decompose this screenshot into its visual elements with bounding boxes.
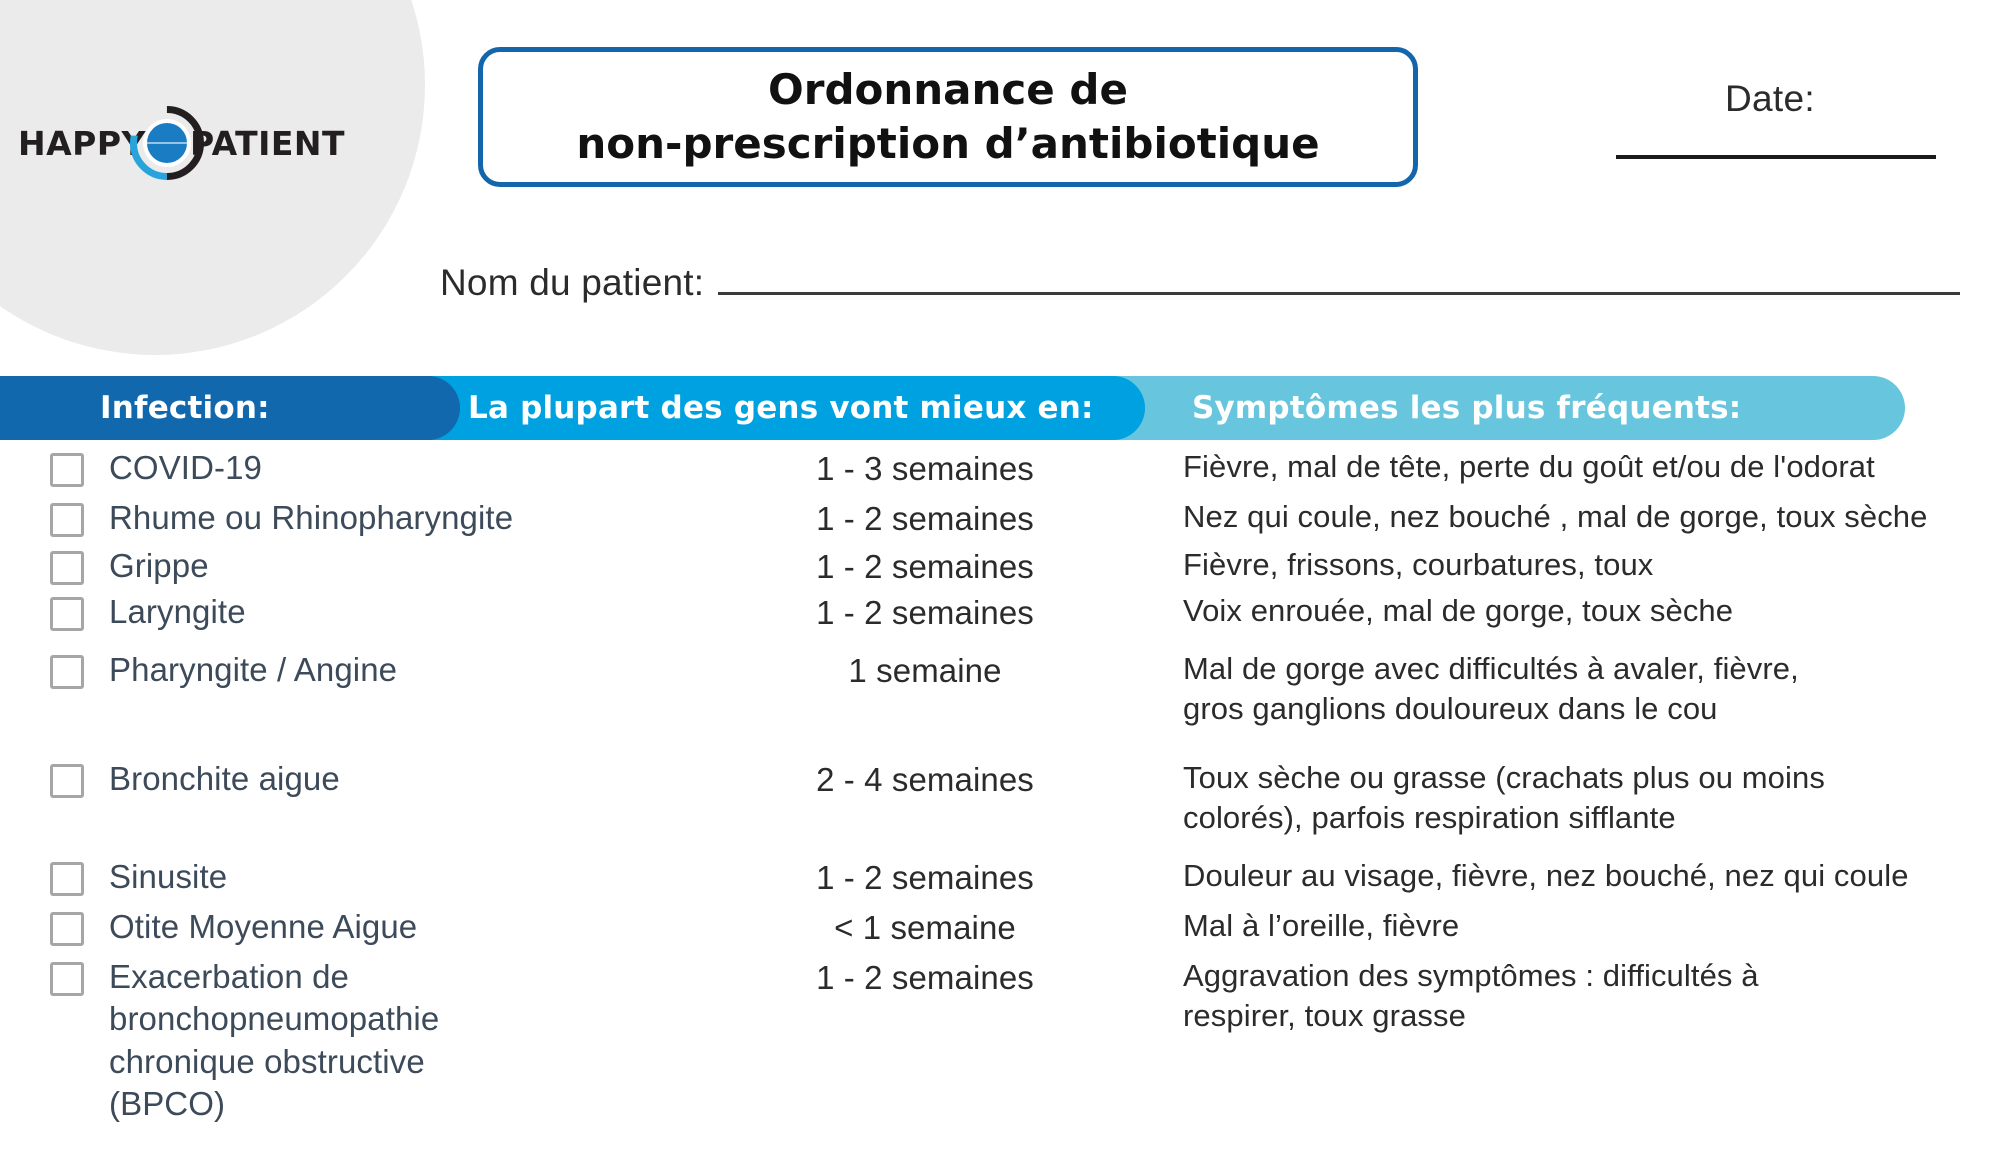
symptoms-cell: Voix enrouée, mal de gorge, toux sèche: [1150, 591, 2000, 631]
prescription-form-page: HAPPY PATIENT Ordonnance de non-prescrip…: [0, 0, 2000, 1166]
symptoms-cell: Mal à l’oreille, fièvre: [1150, 906, 2000, 946]
infection-label: Grippe: [109, 545, 209, 587]
symptoms-line: Fièvre, mal de tête, perte du goût et/ou…: [1183, 447, 1970, 487]
infection-cell: Sinusite: [0, 856, 700, 898]
infection-checkbox[interactable]: [50, 764, 84, 798]
infection-label: Exacerbation de bronchopneumopathie chro…: [109, 956, 509, 1125]
duration-cell: 1 - 2 semaines: [700, 856, 1150, 899]
patient-name-input-line[interactable]: [718, 292, 1960, 295]
symptoms-cell: Aggravation des symptômes : difficultés …: [1150, 956, 2000, 1037]
form-title-box: Ordonnance de non-prescription d’antibio…: [478, 47, 1418, 187]
infection-checkbox[interactable]: [50, 551, 84, 585]
symptoms-line: Mal à l’oreille, fièvre: [1183, 906, 1970, 946]
infection-checkbox[interactable]: [50, 862, 84, 896]
symptoms-line: gros ganglions douloureux dans le cou: [1183, 689, 1970, 729]
infection-label: Pharyngite / Angine: [109, 649, 397, 691]
symptoms-cell: Fièvre, mal de tête, perte du goût et/ou…: [1150, 447, 2000, 487]
table-header-symptoms-label: Symptômes les plus fréquents:: [1192, 390, 1741, 426]
date-input-line[interactable]: [1616, 155, 1936, 159]
table-header-bar: Symptômes les plus fréquents: La plupart…: [0, 376, 1905, 440]
infection-table: COVID-191 - 3 semainesFièvre, mal de têt…: [0, 447, 2000, 1125]
symptoms-line: Toux sèche ou grasse (crachats plus ou m…: [1183, 758, 1970, 798]
infection-cell: Pharyngite / Angine: [0, 649, 700, 691]
symptoms-line: Fièvre, frissons, courbatures, toux: [1183, 545, 1970, 585]
symptoms-line: respirer, toux grasse: [1183, 996, 1970, 1036]
symptoms-cell: Douleur au visage, fièvre, nez bouché, n…: [1150, 856, 2000, 896]
table-row[interactable]: Exacerbation de bronchopneumopathie chro…: [0, 956, 2000, 1125]
symptoms-cell: Nez qui coule, nez bouché , mal de gorge…: [1150, 497, 2000, 537]
infection-checkbox[interactable]: [50, 597, 84, 631]
infection-cell: Exacerbation de bronchopneumopathie chro…: [0, 956, 700, 1125]
symptoms-cell: Mal de gorge avec difficultés à avaler, …: [1150, 649, 2000, 730]
infection-label: Rhume ou Rhinopharyngite: [109, 497, 513, 539]
table-row[interactable]: Pharyngite / Angine1 semaineMal de gorge…: [0, 649, 2000, 730]
duration-cell: 1 - 3 semaines: [700, 447, 1150, 490]
symptoms-line: Voix enrouée, mal de gorge, toux sèche: [1183, 591, 1970, 631]
duration-cell: < 1 semaine: [700, 906, 1150, 949]
symptoms-line: Aggravation des symptômes : difficultés …: [1183, 956, 1970, 996]
infection-label: Otite Moyenne Aigue: [109, 906, 417, 948]
form-title-line-2: non-prescription d’antibiotique: [576, 117, 1319, 171]
form-title-line-1: Ordonnance de: [768, 63, 1128, 117]
infection-label: Laryngite: [109, 591, 246, 633]
duration-cell: 1 - 2 semaines: [700, 591, 1150, 634]
symptoms-line: Douleur au visage, fièvre, nez bouché, n…: [1183, 856, 1970, 896]
table-header-duration-label: La plupart des gens vont mieux en:: [468, 390, 1094, 426]
table-row[interactable]: Rhume ou Rhinopharyngite1 - 2 semainesNe…: [0, 497, 2000, 545]
symptoms-cell: Fièvre, frissons, courbatures, toux: [1150, 545, 2000, 585]
table-row[interactable]: Grippe1 - 2 semainesFièvre, frissons, co…: [0, 545, 2000, 591]
duration-cell: 2 - 4 semaines: [700, 758, 1150, 801]
table-row[interactable]: Sinusite1 - 2 semainesDouleur au visage,…: [0, 856, 2000, 906]
table-row[interactable]: COVID-191 - 3 semainesFièvre, mal de têt…: [0, 447, 2000, 497]
symptoms-line: Mal de gorge avec difficultés à avaler, …: [1183, 649, 1970, 689]
infection-checkbox[interactable]: [50, 655, 84, 689]
logo-word-happy: HAPPY: [18, 127, 146, 160]
infection-cell: Rhume ou Rhinopharyngite: [0, 497, 700, 539]
infection-cell: Grippe: [0, 545, 700, 587]
table-header-infection: Infection:: [0, 376, 460, 440]
infection-checkbox[interactable]: [50, 453, 84, 487]
patient-name-field-group: Nom du patient:: [440, 262, 1960, 304]
patient-name-label: Nom du patient:: [440, 262, 704, 304]
infection-checkbox[interactable]: [50, 962, 84, 996]
table-row[interactable]: Laryngite1 - 2 semainesVoix enrouée, mal…: [0, 591, 2000, 641]
symptoms-line: Nez qui coule, nez bouché , mal de gorge…: [1183, 497, 1970, 537]
duration-cell: 1 - 2 semaines: [700, 497, 1150, 540]
circle-ring-logo-icon: [130, 106, 204, 180]
symptoms-cell: Toux sèche ou grasse (crachats plus ou m…: [1150, 758, 2000, 839]
infection-cell: Otite Moyenne Aigue: [0, 906, 700, 948]
infection-label: Bronchite aigue: [109, 758, 340, 800]
infection-cell: COVID-19: [0, 447, 700, 489]
logo-word-patient: PATIENT: [190, 127, 345, 160]
table-header-infection-label: Infection:: [100, 390, 270, 426]
table-row[interactable]: Otite Moyenne Aigue< 1 semaineMal à l’or…: [0, 906, 2000, 956]
date-label: Date:: [1580, 78, 1960, 120]
date-field-group: Date:: [1580, 78, 1960, 159]
table-row[interactable]: Bronchite aigue2 - 4 semainesToux sèche …: [0, 758, 2000, 839]
symptoms-line: colorés), parfois respiration sifflante: [1183, 798, 1970, 838]
infection-label: Sinusite: [109, 856, 227, 898]
duration-cell: 1 - 2 semaines: [700, 545, 1150, 588]
duration-cell: 1 - 2 semaines: [700, 956, 1150, 999]
happy-patient-logo: HAPPY PATIENT: [18, 108, 345, 178]
duration-cell: 1 semaine: [700, 649, 1150, 692]
infection-label: COVID-19: [109, 447, 262, 489]
infection-cell: Laryngite: [0, 591, 700, 633]
infection-checkbox[interactable]: [50, 912, 84, 946]
infection-checkbox[interactable]: [50, 503, 84, 537]
infection-cell: Bronchite aigue: [0, 758, 700, 800]
